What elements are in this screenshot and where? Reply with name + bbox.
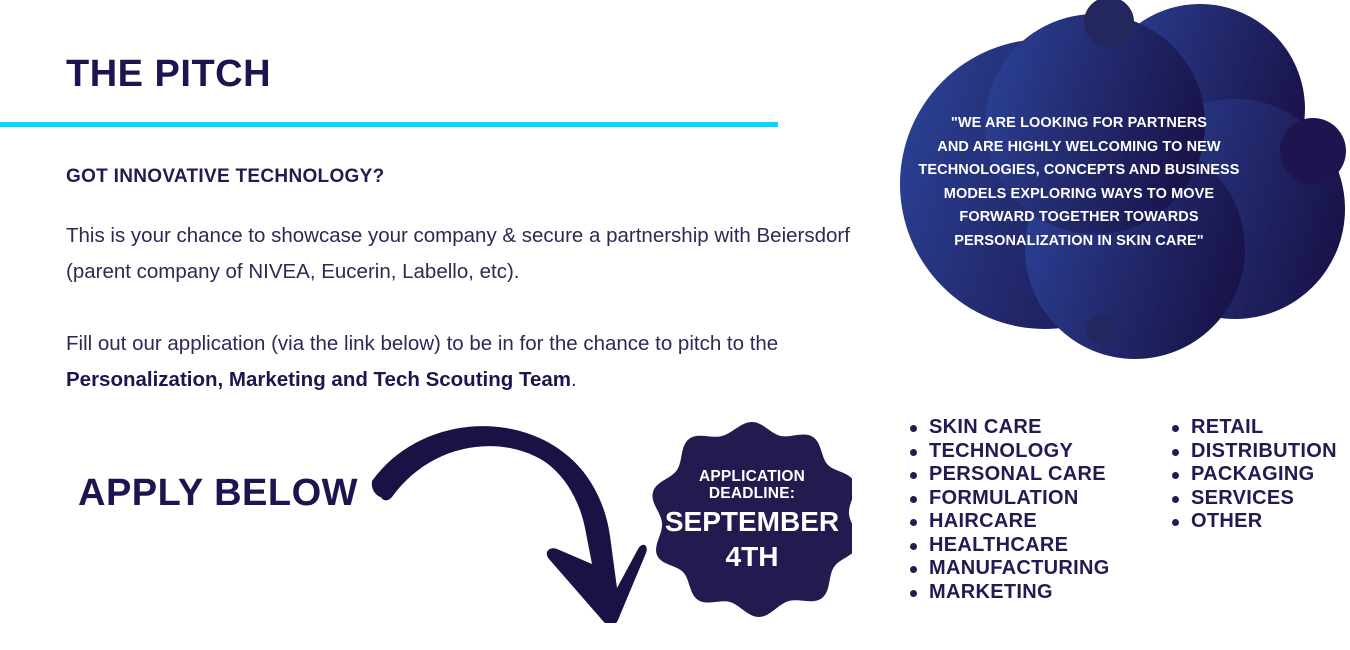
intro-body: This is your chance to showcase your com… — [66, 218, 881, 398]
intro-paragraph-2: Fill out our application (via the link b… — [66, 326, 881, 398]
page-title: THE PITCH — [66, 55, 271, 95]
quote-blob-graphic: "WE ARE LOOKING FOR PARTNERS AND ARE HIG… — [880, 0, 1350, 369]
paragraph-spacer — [66, 290, 881, 326]
intro-paragraph-2-tail: . — [571, 368, 577, 391]
list-item: FORMULATION — [905, 487, 1137, 511]
satellite-circle-bottom — [1086, 315, 1116, 345]
apply-below-heading: APPLY BELOW — [78, 472, 358, 515]
list-item: PACKAGING — [1167, 463, 1337, 487]
intro-paragraph-1: This is your chance to showcase your com… — [66, 218, 881, 290]
cyan-divider — [0, 122, 778, 127]
intro-paragraph-2-lead: Fill out our application (via the link b… — [66, 332, 778, 355]
list-item: MARKETING — [905, 581, 1137, 605]
category-column-right: RETAIL DISTRIBUTION PACKAGING SERVICES O… — [1167, 416, 1337, 604]
curved-down-arrow-icon — [370, 418, 650, 623]
scouting-team-emphasis: Personalization, Marketing and Tech Scou… — [66, 368, 571, 391]
category-column-left: SKIN CARE TECHNOLOGY PERSONAL CARE FORMU… — [905, 416, 1137, 604]
list-item: HAIRCARE — [905, 510, 1137, 534]
application-deadline-badge: APPLICATION DEADLINE: SEPTEMBER 4TH — [652, 420, 852, 620]
slide-canvas: THE PITCH GOT INNOVATIVE TECHNOLOGY? Thi… — [0, 0, 1350, 650]
list-item: MANUFACTURING — [905, 557, 1137, 581]
list-item: OTHER — [1167, 510, 1337, 534]
list-item: PERSONAL CARE — [905, 463, 1137, 487]
list-item: SKIN CARE — [905, 416, 1137, 440]
list-item: RETAIL — [1167, 416, 1337, 440]
intro-subheading: GOT INNOVATIVE TECHNOLOGY? — [66, 166, 385, 188]
list-item: TECHNOLOGY — [905, 440, 1137, 464]
blob-main-cluster — [900, 4, 1345, 359]
list-item: SERVICES — [1167, 487, 1337, 511]
satellite-circle-right — [1280, 118, 1346, 184]
category-lists: SKIN CARE TECHNOLOGY PERSONAL CARE FORMU… — [905, 416, 1345, 604]
list-item: HEALTHCARE — [905, 534, 1137, 558]
list-item: DISTRIBUTION — [1167, 440, 1337, 464]
